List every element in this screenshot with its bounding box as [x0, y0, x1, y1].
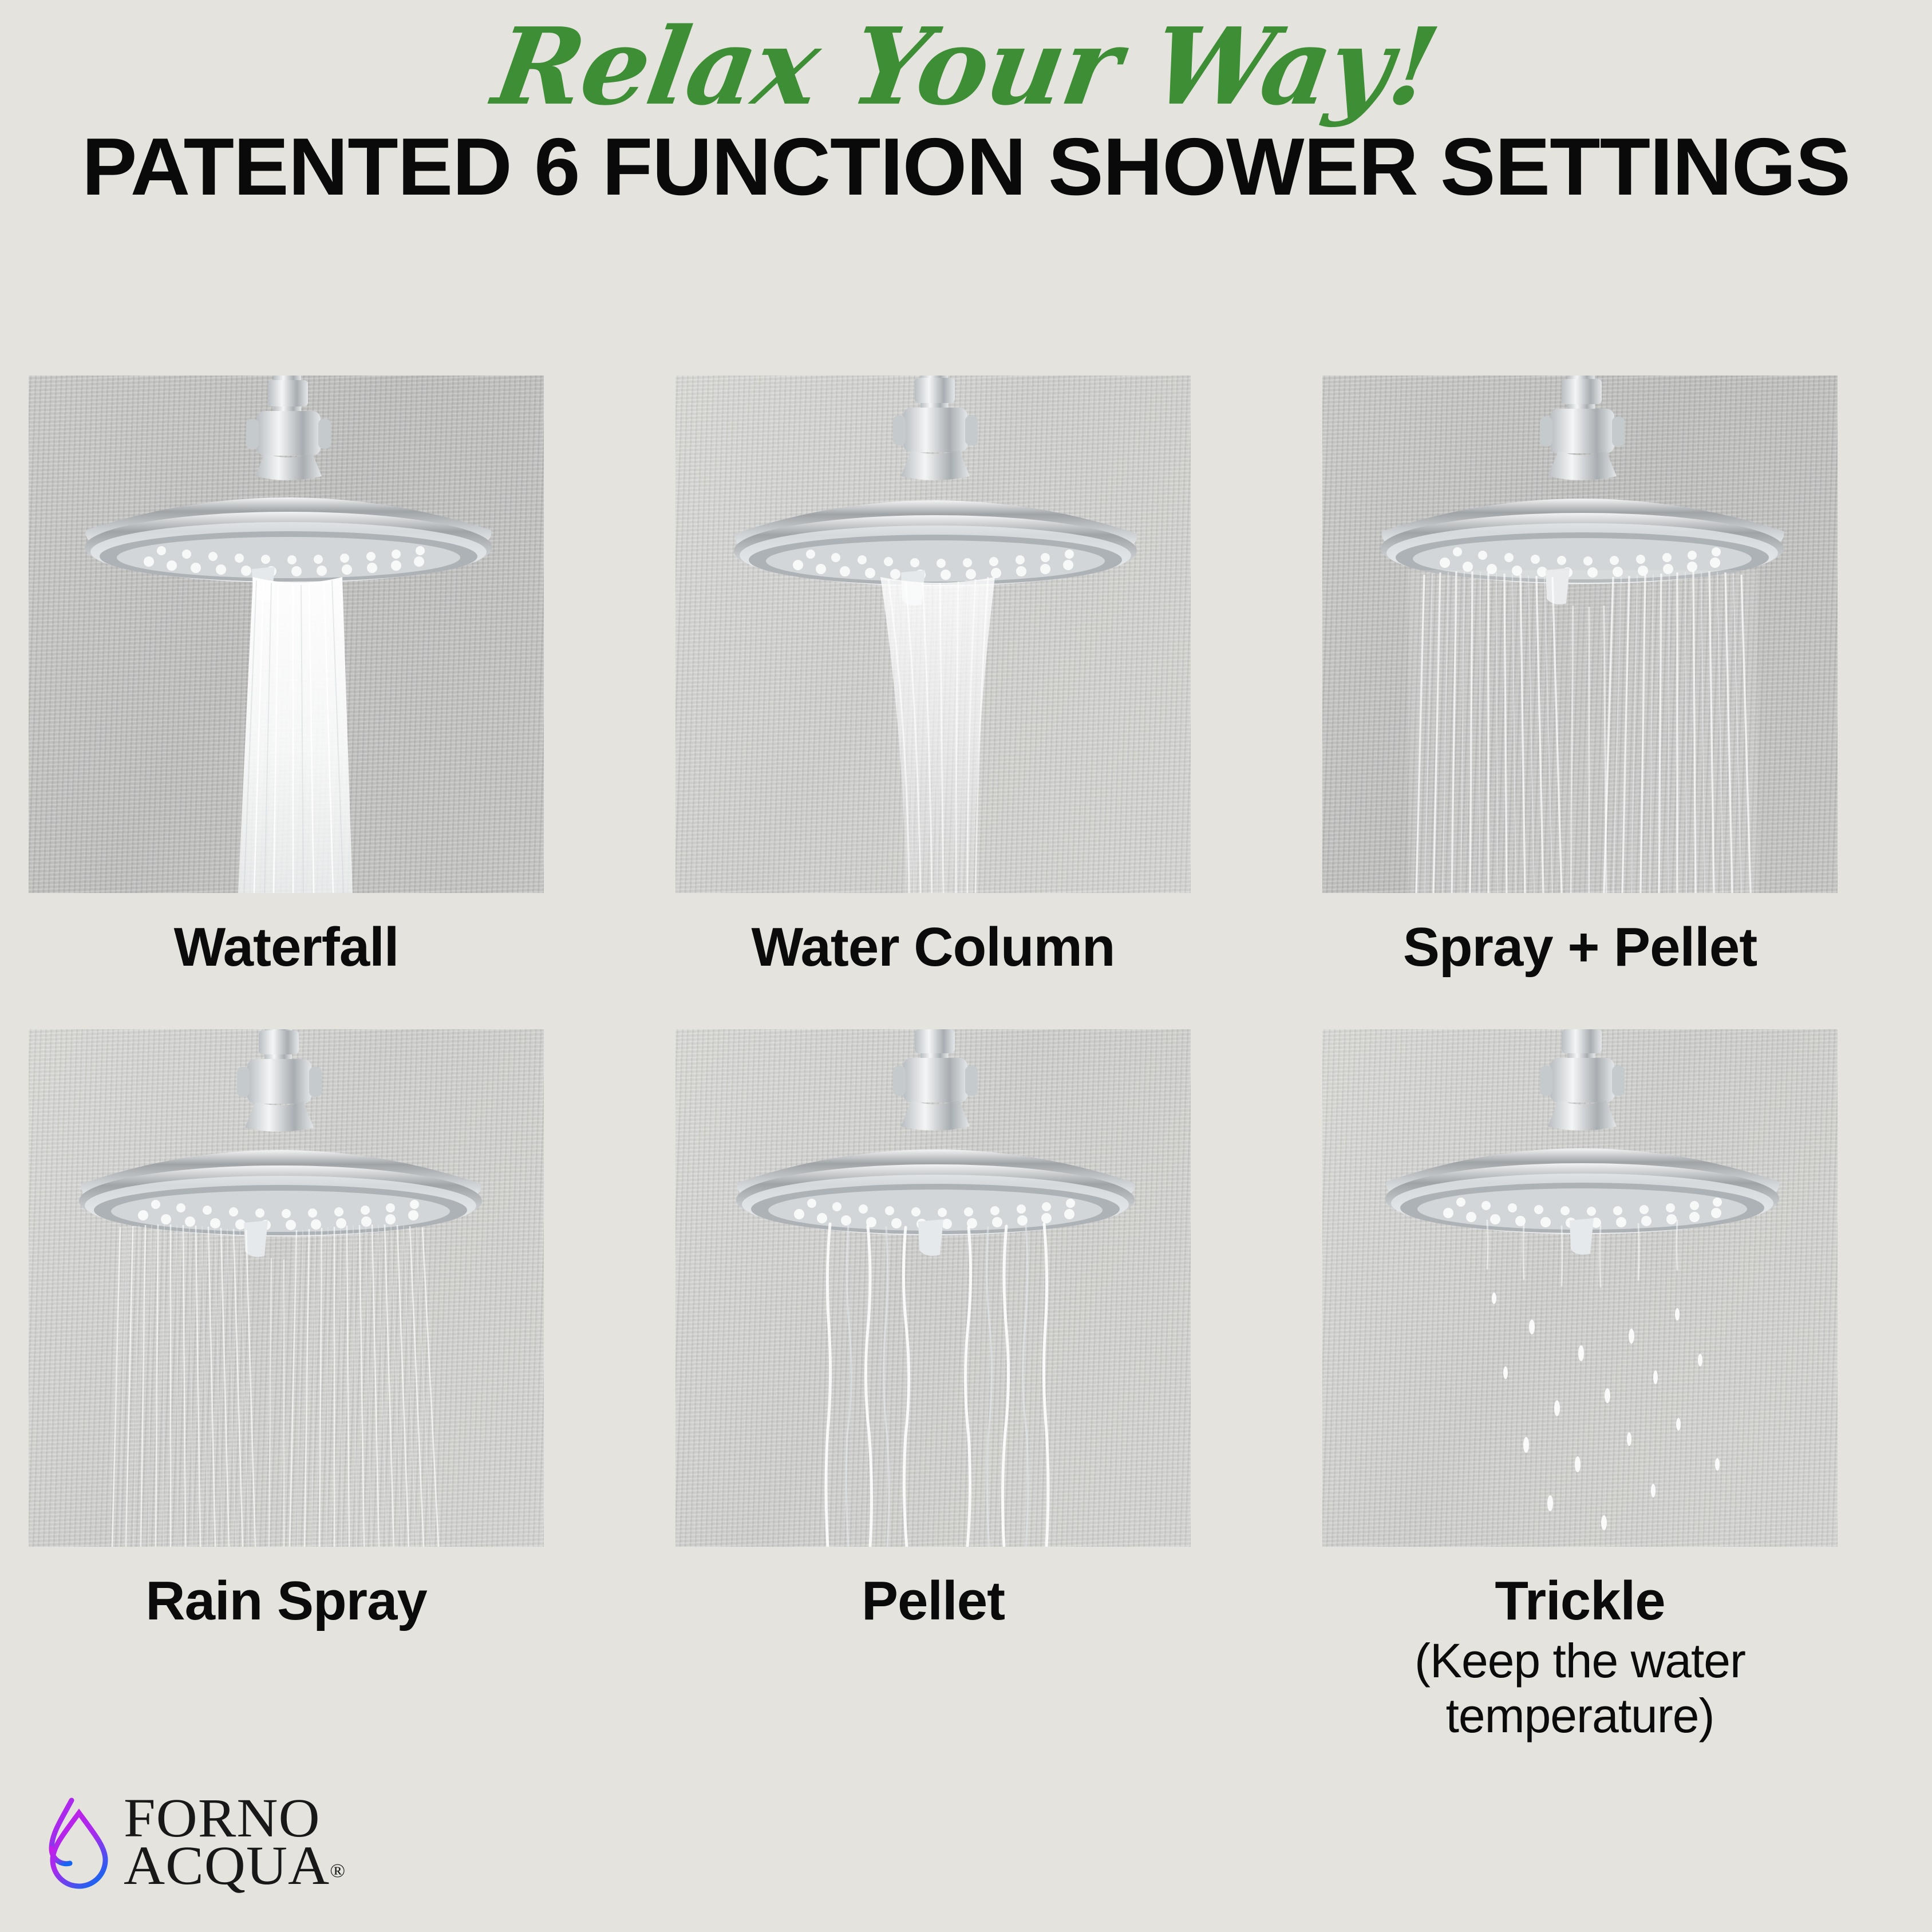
shower-image-waterfall [29, 376, 544, 893]
shower-image-water-column [675, 376, 1191, 893]
showerhead-spray-pellet-icon [1322, 376, 1838, 893]
shower-settings-grid: Waterfall [29, 376, 1903, 1743]
setting-label: Pellet [675, 1573, 1191, 1629]
showerhead-pellet-icon [675, 1029, 1191, 1547]
showerhead-trickle-icon [1322, 1029, 1838, 1547]
setting-card-water-column[interactable]: Water Column [675, 376, 1191, 975]
logo-acqua-text: ACQUA [124, 1835, 330, 1896]
page-header: Relax Your Way! PATENTED 6 FUNCTION SHOW… [0, 0, 1932, 208]
script-tagline: Relax Your Way! [487, 13, 1444, 121]
logo-line-acqua: ACQUA® [124, 1842, 345, 1890]
registered-mark: ® [330, 1860, 345, 1882]
setting-sublabel: (Keep the water temperature) [1322, 1634, 1838, 1744]
showerhead-rain-spray-icon [29, 1029, 544, 1547]
setting-card-pellet[interactable]: Pellet [675, 1029, 1191, 1743]
setting-card-spray-pellet[interactable]: Spray + Pellet [1322, 376, 1838, 975]
shower-image-pellet [675, 1029, 1191, 1547]
shower-image-spray-pellet [1322, 376, 1838, 893]
water-drop-icon [45, 1793, 113, 1891]
setting-card-waterfall[interactable]: Waterfall [29, 376, 544, 975]
setting-label: Rain Spray [29, 1573, 544, 1629]
page-title: PATENTED 6 FUNCTION SHOWER SETTINGS [0, 127, 1932, 208]
showerhead-waterfall-icon [29, 376, 544, 893]
setting-label: Waterfall [29, 919, 544, 975]
setting-label: Spray + Pellet [1322, 919, 1838, 975]
showerhead-water-column-icon [675, 376, 1191, 893]
setting-label: Trickle [1322, 1573, 1838, 1629]
shower-image-trickle [1322, 1029, 1838, 1547]
setting-card-trickle[interactable]: Trickle (Keep the water temperature) [1322, 1029, 1838, 1743]
shower-image-rain-spray [29, 1029, 544, 1547]
brand-logo[interactable]: FORNO ACQUA® [45, 1793, 337, 1891]
setting-card-rain-spray[interactable]: Rain Spray [29, 1029, 544, 1743]
setting-label: Water Column [675, 919, 1191, 975]
